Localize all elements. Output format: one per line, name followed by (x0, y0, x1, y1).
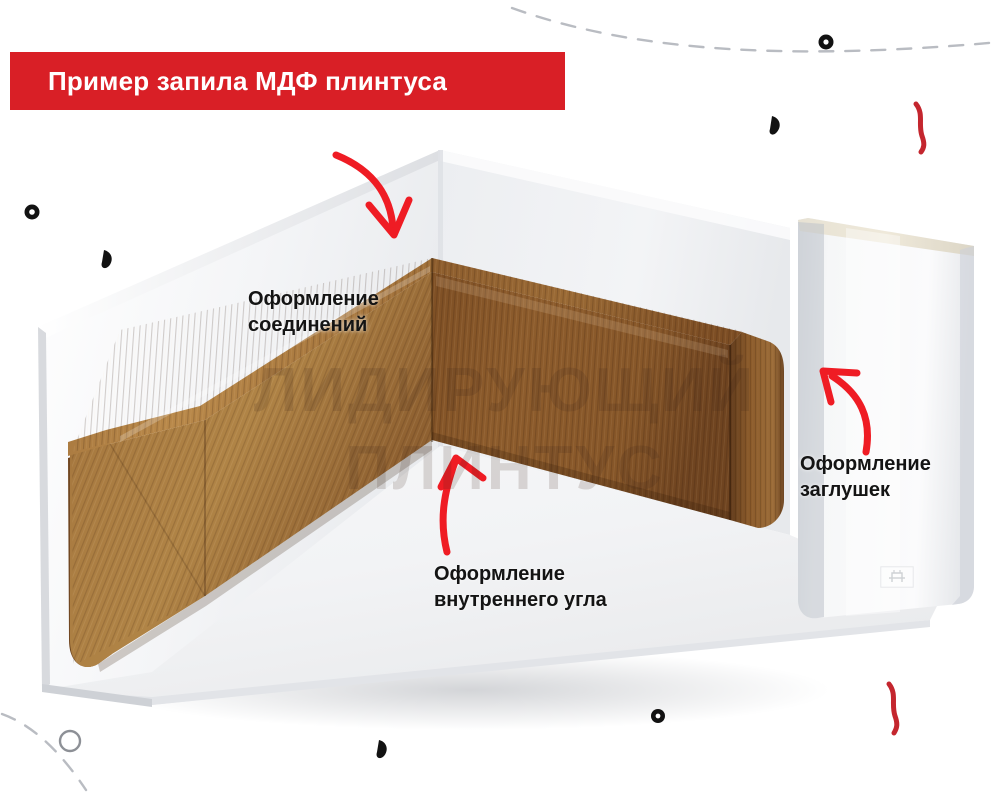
squiggle-top-right-icon (916, 104, 924, 152)
comma-left-icon (102, 250, 112, 268)
title-banner: Пример запила МДФ плинтуса (10, 52, 565, 110)
page-title: Пример запила МДФ плинтуса (48, 66, 447, 97)
plinth-corner-illustration (0, 0, 1000, 800)
callout-label-inner-corner: Оформление внутреннего угла (434, 562, 607, 613)
illustration-stage: ЛИДИРУЮЩИЙ ПЛИНТУС Пример запила МДФ пли… (0, 0, 1000, 800)
dashed-curve-bottom-icon (2, 714, 86, 790)
comma-top-right-icon (770, 116, 780, 135)
circle-outline-bottom-icon (60, 731, 80, 751)
end-cap-panel (798, 218, 974, 618)
squiggle-bottom-right-icon (889, 684, 897, 733)
comma-bottom-icon (377, 740, 387, 758)
callout-label-joints: Оформление соединений (248, 287, 379, 338)
ring-dot-top-right-icon (819, 35, 834, 50)
dashed-curve-top-icon (512, 8, 1000, 51)
ring-dot-left-icon (25, 205, 40, 220)
corner-stamp-icon (880, 566, 914, 588)
ring-dot-bottom-icon (651, 709, 665, 723)
callout-label-end-caps: Оформление заглушек (800, 452, 931, 503)
